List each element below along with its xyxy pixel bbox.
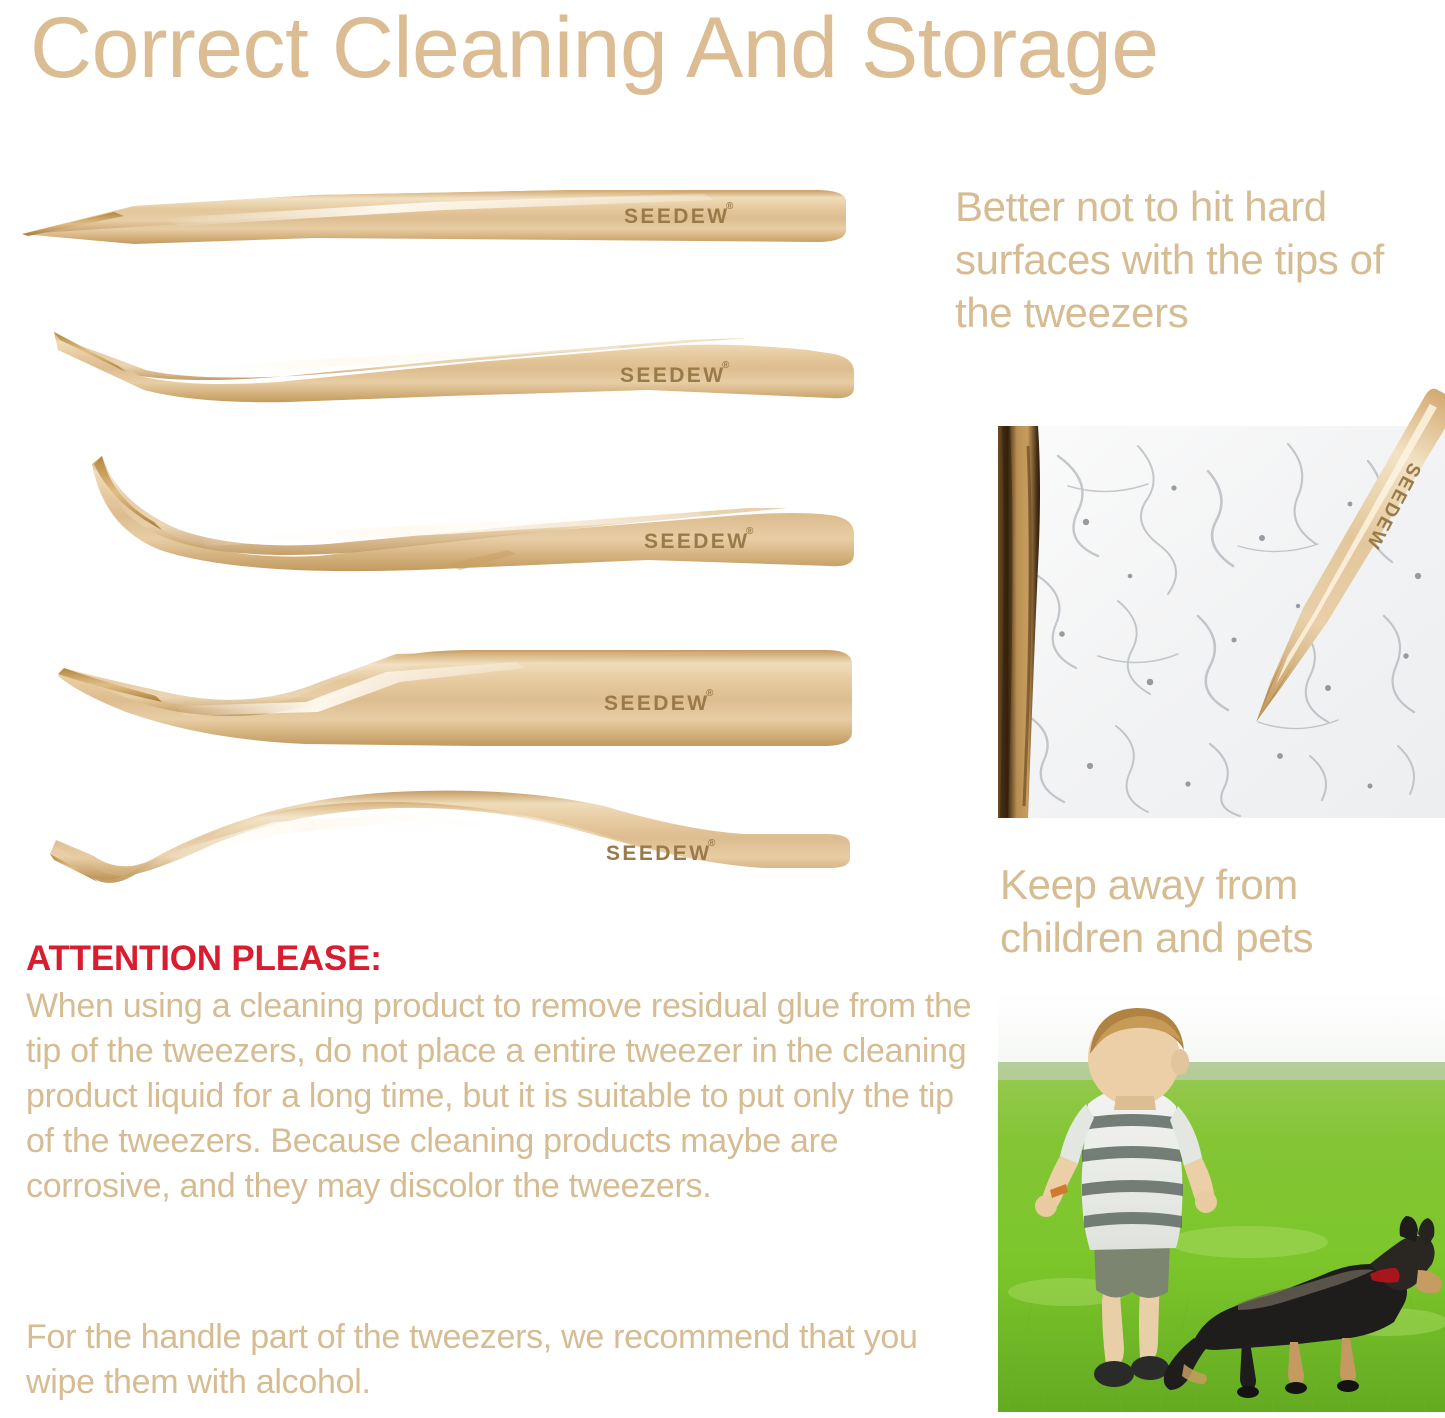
tweezer-straight-pointed: SEEDEW ® — [14, 178, 874, 256]
toddler-right-shoe — [1131, 1356, 1169, 1380]
tweezer-body — [54, 332, 854, 402]
brand-engraving: SEEDEW — [604, 692, 709, 715]
dog-paw-mid — [1285, 1382, 1307, 1394]
toddler-right-hand — [1195, 1191, 1217, 1213]
children-photo-art — [998, 992, 1445, 1412]
toddler-left-hand — [1035, 1195, 1057, 1217]
tweezer-body — [92, 456, 854, 571]
brand-engraving: SEEDEW — [620, 364, 725, 387]
tweezer-boot-curved: SEEDEW ® — [56, 640, 886, 766]
overlay-tweezer-highlight — [1273, 401, 1436, 691]
toddler-ear — [1171, 1049, 1189, 1075]
registered-mark: ® — [726, 201, 734, 212]
dog-paw-front — [1337, 1380, 1359, 1392]
tweezer-curved: SEEDEW ® — [88, 450, 878, 578]
handle-care-paragraph: For the handle part of the tweezers, we … — [26, 1315, 976, 1405]
registered-mark: ® — [708, 838, 716, 849]
registered-mark: ® — [746, 526, 754, 537]
tip-warning-heading: Better not to hit hard surfaces with the… — [955, 180, 1445, 339]
brand-engraving: SEEDEW — [606, 842, 711, 865]
brand-engraving: SEEDEW — [624, 205, 729, 228]
attention-paragraph: When using a cleaning product to remove … — [26, 984, 976, 1209]
tweezer-body — [50, 791, 850, 883]
registered-mark: ® — [706, 688, 714, 699]
attention-heading: ATTENTION PLEASE: — [26, 938, 976, 980]
toddler-left-shoe — [1094, 1361, 1134, 1387]
tweezer-angled-45: SEEDEW ® — [48, 310, 878, 406]
brand-engraving: SEEDEW — [644, 530, 749, 553]
dog-paw-rear — [1237, 1386, 1259, 1398]
photo-tweezer-overlay: SEEDEW — [1150, 350, 1445, 770]
tweezer-lineup: SEEDEW ® SEEDEW ® SEEDEW — [0, 150, 900, 940]
tweezer-s-curved: SEEDEW ® — [44, 792, 874, 902]
attention-block: ATTENTION PLEASE: When using a cleaning … — [26, 938, 976, 1209]
page-title: Correct Cleaning And Storage — [30, 0, 1445, 100]
children-and-pets-photo — [998, 992, 1445, 1412]
registered-mark: ® — [722, 360, 730, 371]
toddler-neck — [1114, 1096, 1156, 1110]
safety-warning-heading: Keep away from children and pets — [1000, 858, 1445, 964]
infographic-page: Correct Cleaning And Storage — [0, 0, 1445, 1418]
